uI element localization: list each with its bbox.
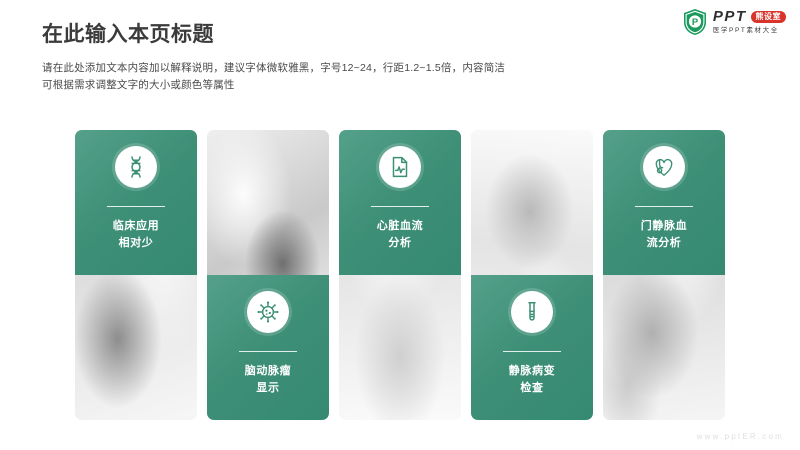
panel-divider bbox=[503, 351, 561, 352]
test-tube-icon bbox=[511, 291, 553, 333]
panel-divider bbox=[635, 206, 693, 207]
site-watermark: www.pptER.com bbox=[697, 432, 784, 441]
feature-card-grid: 临床应用 相对少 bbox=[75, 130, 725, 420]
feature-label-1-line2: 相对少 bbox=[113, 235, 159, 252]
feature-label-3-line1: 心脏血流 bbox=[377, 218, 423, 235]
logo-wordmark: PPT bbox=[713, 9, 747, 24]
shield-logo-icon: P bbox=[682, 8, 708, 36]
logo-row-top: PPT 熊设室 bbox=[713, 9, 786, 24]
logo-badge: 熊设室 bbox=[751, 11, 787, 23]
logo-text-group: PPT 熊设室 医学PPT素材大全 bbox=[713, 9, 786, 35]
feature-panel-3[interactable]: 心脏血流 分析 bbox=[339, 130, 461, 275]
feature-column-5[interactable]: 门静脉血 流分析 bbox=[603, 130, 725, 420]
feature-label-2-line2: 显示 bbox=[245, 380, 291, 397]
feature-label-4-line1: 静脉病变 bbox=[509, 363, 555, 380]
subtitle-line-1: 请在此处添加文本内容加以解释说明，建议字体微软雅黑，字号12~24，行距1.2~… bbox=[42, 60, 662, 77]
feature-label-3: 心脏血流 分析 bbox=[371, 218, 429, 252]
panel-divider bbox=[371, 206, 429, 207]
panel-divider bbox=[239, 351, 297, 352]
feature-label-2: 脑动脉瘤 显示 bbox=[239, 363, 297, 397]
feature-label-5: 门静脉血 流分析 bbox=[635, 218, 693, 252]
logo-tagline: 医学PPT素材大全 bbox=[713, 26, 786, 35]
feature-column-1[interactable]: 临床应用 相对少 bbox=[75, 130, 197, 420]
feature-label-5-line2: 流分析 bbox=[641, 235, 687, 252]
subtitle-line-2: 可根据需求调整文字的大小或颜色等属性 bbox=[42, 77, 662, 94]
feature-label-1: 临床应用 相对少 bbox=[107, 218, 165, 252]
feature-column-4[interactable]: 静脉病变 检查 bbox=[471, 130, 593, 420]
dna-helix-icon bbox=[115, 146, 157, 188]
feature-panel-1[interactable]: 临床应用 相对少 bbox=[75, 130, 197, 275]
feature-column-2[interactable]: 脑动脉瘤 显示 bbox=[207, 130, 329, 420]
page-title: 在此输入本页标题 bbox=[42, 22, 662, 48]
brand-logo[interactable]: P PPT 熊设室 医学PPT素材大全 bbox=[682, 8, 786, 36]
feature-column-3[interactable]: 心脏血流 分析 bbox=[339, 130, 461, 420]
feature-label-1-line1: 临床应用 bbox=[113, 218, 159, 235]
svg-text:P: P bbox=[692, 16, 698, 27]
feature-label-4: 静脉病变 检查 bbox=[503, 363, 561, 397]
subtitle-block: 请在此处添加文本内容加以解释说明，建议字体微软雅黑，字号12~24，行距1.2~… bbox=[42, 60, 662, 94]
feature-label-5-line1: 门静脉血 bbox=[641, 218, 687, 235]
ecg-report-icon bbox=[379, 146, 421, 188]
slide-canvas: 在此输入本页标题 请在此处添加文本内容加以解释说明，建议字体微软雅黑，字号12~… bbox=[0, 0, 800, 450]
feature-label-3-line2: 分析 bbox=[377, 235, 423, 252]
feature-panel-4[interactable]: 静脉病变 检查 bbox=[471, 275, 593, 420]
feature-panel-5[interactable]: 门静脉血 流分析 bbox=[603, 130, 725, 275]
heart-stethoscope-icon bbox=[643, 146, 685, 188]
header-block: 在此输入本页标题 请在此处添加文本内容加以解释说明，建议字体微软雅黑，字号12~… bbox=[42, 22, 662, 94]
feature-label-2-line1: 脑动脉瘤 bbox=[245, 363, 291, 380]
feature-panel-2[interactable]: 脑动脉瘤 显示 bbox=[207, 275, 329, 420]
panel-divider bbox=[107, 206, 165, 207]
feature-label-4-line2: 检查 bbox=[509, 380, 555, 397]
virus-cell-icon bbox=[247, 291, 289, 333]
